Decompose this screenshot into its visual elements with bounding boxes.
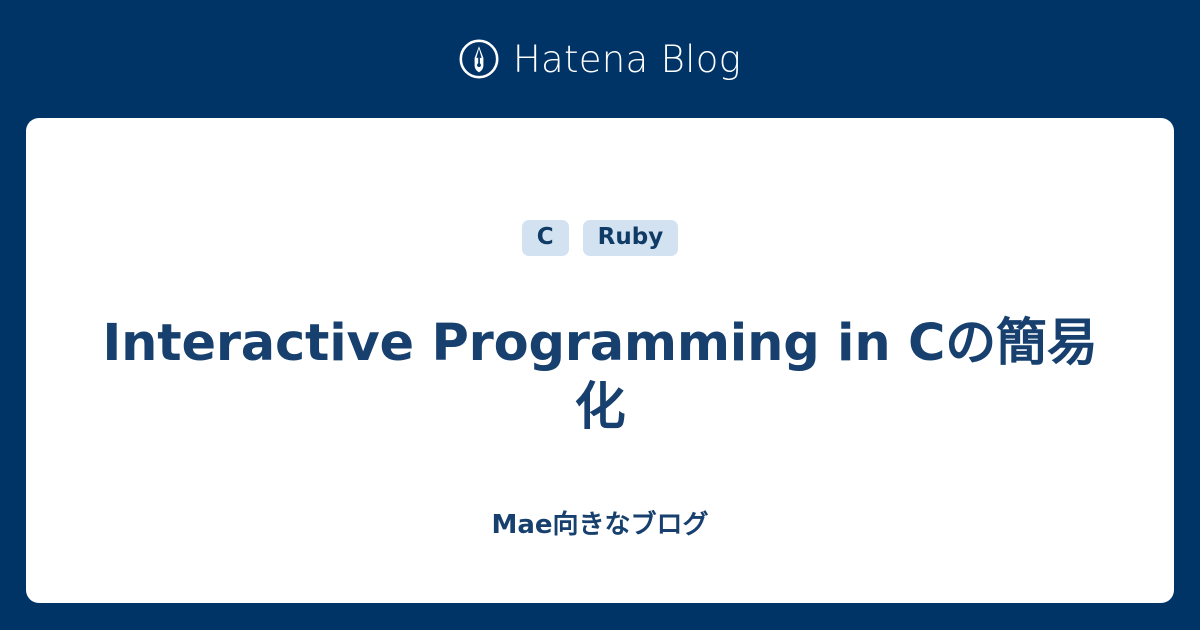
tag-item-ruby[interactable]: Ruby [583, 220, 679, 256]
hatena-logo [459, 39, 499, 79]
og-image-canvas: Hatena Blog C Ruby Interactive Programmi… [0, 0, 1200, 630]
entry-title[interactable]: Interactive Programming in Cの簡易化 [86, 312, 1114, 441]
brand-name-text: Hatena Blog [513, 41, 741, 78]
entry-card: C Ruby Interactive Programming in Cの簡易化 … [26, 118, 1174, 603]
pen-nib-icon [459, 39, 499, 79]
blog-name[interactable]: Mae向きなブログ [26, 510, 1174, 541]
hatena-blog-brand-header: Hatena Blog [0, 0, 1200, 118]
tag-list: C Ruby [26, 220, 1174, 256]
tag-item-c[interactable]: C [522, 220, 569, 256]
